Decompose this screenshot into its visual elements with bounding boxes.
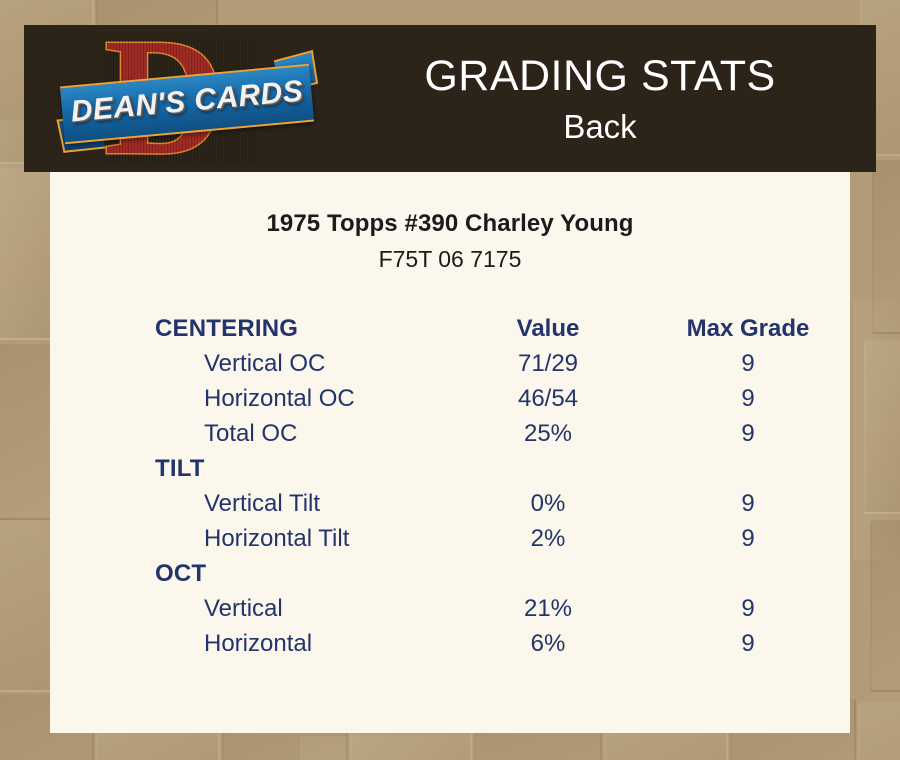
section-header-row: CENTERINGValueMax Grade <box>50 311 850 346</box>
section-spacer-grade <box>646 451 850 486</box>
row-max-grade: 9 <box>646 381 850 416</box>
table-row: Horizontal Tilt2%9 <box>50 521 850 556</box>
row-max-grade: 9 <box>646 486 850 521</box>
grading-stats-table: CENTERINGValueMax GradeVertical OC71/299… <box>50 311 850 661</box>
deans-cards-logo: D DEAN'S CARDS <box>62 31 312 167</box>
table-row: Horizontal6%9 <box>50 626 850 661</box>
row-max-grade: 9 <box>646 626 850 661</box>
header-band: D DEAN'S CARDS GRADING STATS Back <box>24 25 876 172</box>
section-label-oct: OCT <box>50 556 450 591</box>
row-label: Horizontal OC <box>50 381 450 416</box>
section-label-tilt: TILT <box>50 451 450 486</box>
row-value: 2% <box>450 521 646 556</box>
page-subtitle: Back <box>563 107 636 147</box>
section-spacer-value <box>450 556 646 591</box>
section-header-row: TILT <box>50 451 850 486</box>
card-title: 1975 Topps #390 Charley Young <box>50 210 850 238</box>
row-max-grade: 9 <box>646 416 850 451</box>
table-row: Vertical OC71/299 <box>50 346 850 381</box>
row-value: 0% <box>450 486 646 521</box>
table-row: Vertical21%9 <box>50 591 850 626</box>
logo-wordmark: DEAN'S CARDS <box>60 64 314 140</box>
row-value: 46/54 <box>450 381 646 416</box>
row-label: Vertical Tilt <box>50 486 450 521</box>
row-label: Vertical OC <box>50 346 450 381</box>
row-value: 25% <box>450 416 646 451</box>
header-titles: GRADING STATS Back <box>324 25 876 172</box>
row-label: Horizontal <box>50 626 450 661</box>
section-label-centering: CENTERING <box>50 311 450 346</box>
row-label: Total OC <box>50 416 450 451</box>
content-panel: 1975 Topps #390 Charley Young F75T 06 71… <box>50 172 850 733</box>
column-header-value: Value <box>450 311 646 346</box>
row-value: 21% <box>450 591 646 626</box>
card-id-line: F75T 06 7175 <box>50 246 850 273</box>
section-spacer-value <box>450 451 646 486</box>
row-max-grade: 9 <box>646 591 850 626</box>
row-value: 6% <box>450 626 646 661</box>
table-row: Horizontal OC46/549 <box>50 381 850 416</box>
table-row: Total OC25%9 <box>50 416 850 451</box>
row-label: Vertical <box>50 591 450 626</box>
section-header-row: OCT <box>50 556 850 591</box>
section-spacer-grade <box>646 556 850 591</box>
row-max-grade: 9 <box>646 346 850 381</box>
row-value: 71/29 <box>450 346 646 381</box>
table-row: Vertical Tilt0%9 <box>50 486 850 521</box>
page-title: GRADING STATS <box>424 51 775 101</box>
column-header-max-grade: Max Grade <box>646 311 850 346</box>
row-max-grade: 9 <box>646 521 850 556</box>
row-label: Horizontal Tilt <box>50 521 450 556</box>
